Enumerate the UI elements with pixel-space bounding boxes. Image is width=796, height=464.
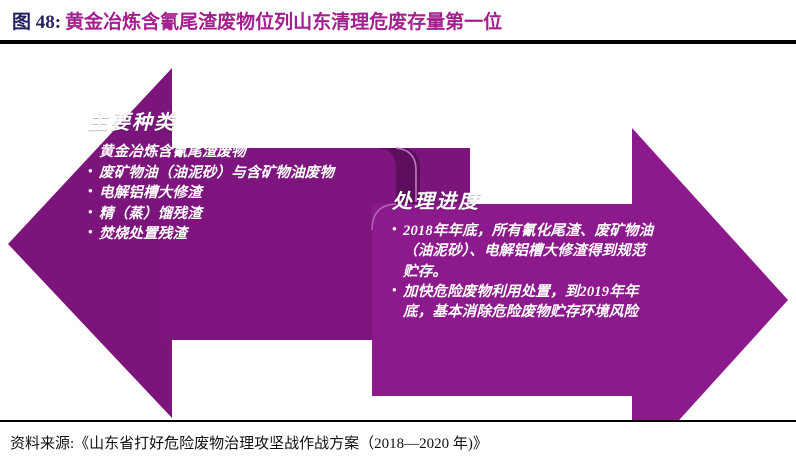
figure-title-row: 图 48: 黄金冶炼含氰尾渣废物位列山东清理危废存量第一位 [0, 0, 796, 40]
left-panel-text: 主要种类 黄金冶炼含氰尾渣废物 废矿物油（油泥砂）与含矿物油废物 电解铝槽大修渣… [88, 106, 334, 245]
right-panel-text: 处理进度 2018年年底，所有氰化尾渣、废矿物油 （油泥砂）、电解铝槽大修渣得到… [392, 185, 653, 322]
source-text: 资料来源:《山东省打好危险废物治理攻坚战作战方案（2018—2020 年)》 [10, 432, 488, 453]
list-item: 加快危险废物利用处置，到2019年年 底，基本消除危险废物贮存环境风险 [392, 282, 653, 323]
source-divider [0, 420, 796, 422]
list-item: 2018年年底，所有氰化尾渣、废矿物油 （油泥砂）、电解铝槽大修渣得到规范 贮存… [392, 221, 653, 282]
source-row: 资料来源:《山东省打好危险废物治理攻坚战作战方案（2018—2020 年)》 [0, 425, 796, 459]
figure-container: 图 48: 黄金冶炼含氰尾渣废物位列山东清理危废存量第一位 [0, 0, 796, 464]
list-item: 黄金冶炼含氰尾渣废物 [88, 142, 334, 163]
right-panel-bullets: 2018年年底，所有氰化尾渣、废矿物油 （油泥砂）、电解铝槽大修渣得到规范 贮存… [392, 221, 653, 322]
figure-title: 黄金冶炼含氰尾渣废物位列山东清理危废存量第一位 [65, 7, 502, 34]
list-item: 电解铝槽大修渣 [88, 183, 334, 204]
diagram-canvas: 主要种类 黄金冶炼含氰尾渣废物 废矿物油（油泥砂）与含矿物油废物 电解铝槽大修渣… [0, 44, 796, 420]
list-item: 废矿物油（油泥砂）与含矿物油废物 [88, 163, 334, 184]
list-item: 精（蒸）馏残渣 [88, 204, 334, 225]
list-item: 焚烧处置残渣 [88, 224, 334, 245]
left-panel-heading: 主要种类 [88, 106, 334, 135]
right-panel-heading: 处理进度 [392, 185, 653, 214]
figure-number: 图 48: [12, 7, 61, 34]
left-panel-bullets: 黄金冶炼含氰尾渣废物 废矿物油（油泥砂）与含矿物油废物 电解铝槽大修渣 精（蒸）… [88, 142, 334, 245]
